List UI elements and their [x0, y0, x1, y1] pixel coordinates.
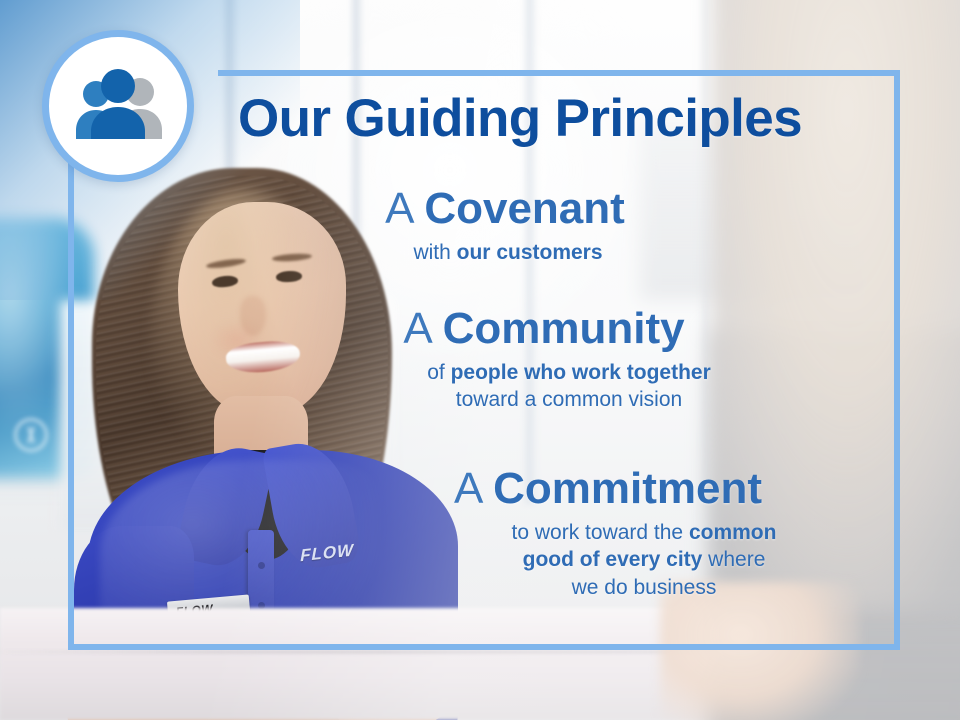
- principle-headline: A Covenant: [68, 186, 900, 232]
- subtext-run: to work toward the: [512, 521, 689, 544]
- subtext-emphasis: good of every city: [523, 548, 703, 571]
- page-title: Our Guiding Principles: [68, 92, 900, 146]
- principle-subtext: with our customers: [68, 239, 900, 266]
- principle-subtext: to work toward the commongood of every c…: [68, 519, 900, 601]
- subtext-run: we do business: [572, 576, 717, 599]
- principle-word: Community: [443, 304, 685, 353]
- principle-community: A Community of people who work togethert…: [68, 306, 900, 414]
- principle-covenant: A Covenant with our customers: [68, 186, 900, 266]
- subtext-emphasis: people who work together: [451, 361, 711, 384]
- principle-headline: A Commitment: [68, 466, 900, 512]
- subtext-emphasis: our customers: [457, 241, 603, 264]
- subtext-run: toward a common vision: [456, 388, 682, 411]
- poster-content: Our Guiding Principles A Covenant with o…: [68, 70, 900, 650]
- principle-article: A: [385, 184, 412, 233]
- principle-commitment: A Commitment to work toward the commongo…: [68, 466, 900, 601]
- subtext-run: with: [413, 241, 456, 264]
- subtext-run: where: [702, 548, 765, 571]
- subtext-run: of: [427, 361, 450, 384]
- guiding-principles-poster: FLOW FLOW AUTOMOTIVE: [0, 0, 960, 720]
- subtext-emphasis: common: [689, 521, 777, 544]
- principle-headline: A Community: [68, 306, 900, 352]
- principle-word: Commitment: [493, 464, 762, 513]
- principle-article: A: [403, 304, 430, 353]
- principle-word: Covenant: [424, 184, 624, 233]
- principle-subtext: of people who work togethertoward a comm…: [68, 359, 900, 414]
- principle-article: A: [454, 464, 481, 513]
